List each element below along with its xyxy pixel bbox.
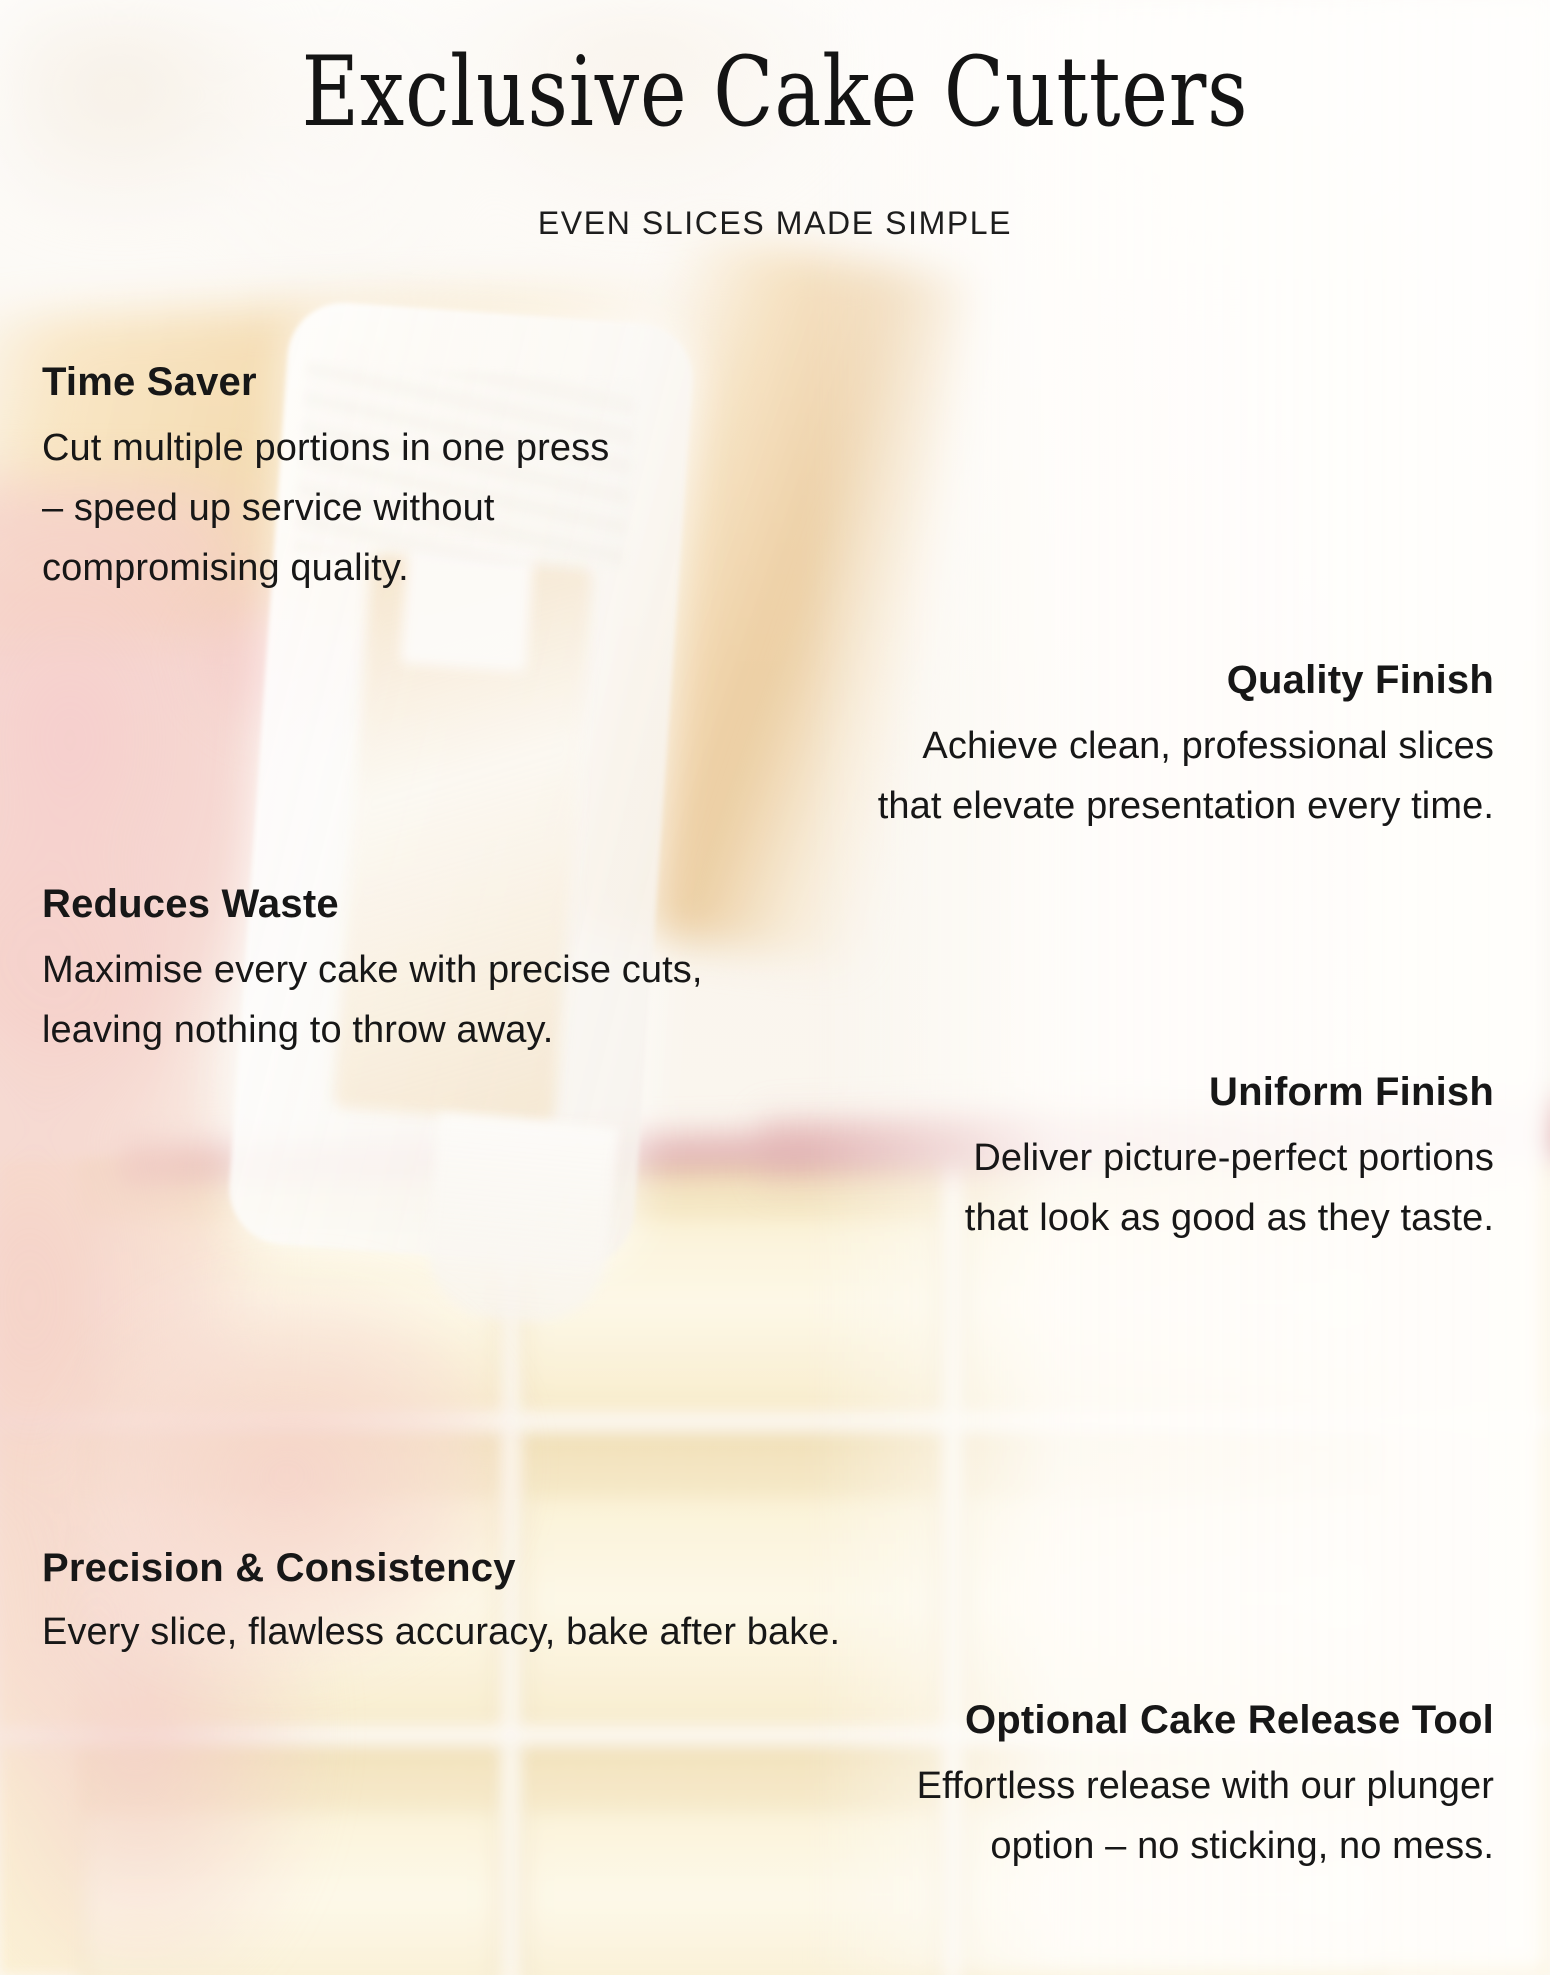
feature-block-optional-cake-release-tool: Optional Cake Release Tool Effortless re…: [917, 1700, 1494, 1876]
feature-body-line: Every slice, flawless accuracy, bake aft…: [42, 1604, 840, 1661]
feature-block-uniform-finish: Uniform Finish Deliver picture-perfect p…: [965, 1072, 1494, 1248]
feature-heading: Time Saver: [42, 362, 609, 402]
feature-heading: Reduces Waste: [42, 884, 703, 924]
page-subtitle: EVEN SLICES MADE SIMPLE: [0, 205, 1550, 242]
poster-canvas: Exclusive Cake Cutters EVEN SLICES MADE …: [0, 0, 1550, 1975]
feature-body-line: leaving nothing to throw away.: [42, 1000, 703, 1060]
feature-body-line: Cut multiple portions in one press: [42, 418, 609, 478]
feature-body-line: compromising quality.: [42, 538, 609, 598]
feature-body-line: Deliver picture-perfect portions: [965, 1128, 1494, 1188]
feature-body: Every slice, flawless accuracy, bake aft…: [42, 1604, 840, 1661]
feature-body: Maximise every cake with precise cuts, l…: [42, 940, 703, 1060]
feature-body: Achieve clean, professional slices that …: [878, 716, 1494, 836]
feature-body-line: – speed up service without: [42, 478, 609, 538]
feature-body-line: option – no sticking, no mess.: [917, 1816, 1494, 1876]
poster-content: Exclusive Cake Cutters EVEN SLICES MADE …: [0, 0, 1550, 1975]
feature-body-line: that look as good as they taste.: [965, 1188, 1494, 1248]
feature-block-quality-finish: Quality Finish Achieve clean, profession…: [878, 660, 1494, 836]
feature-heading: Optional Cake Release Tool: [917, 1700, 1494, 1740]
feature-body-line: Effortless release with our plunger: [917, 1756, 1494, 1816]
feature-heading: Uniform Finish: [965, 1072, 1494, 1112]
page-title: Exclusive Cake Cutters: [140, 42, 1411, 143]
feature-block-time-saver: Time Saver Cut multiple portions in one …: [42, 362, 609, 598]
feature-body: Cut multiple portions in one press – spe…: [42, 418, 609, 598]
feature-block-reduces-waste: Reduces Waste Maximise every cake with p…: [42, 884, 703, 1060]
feature-body: Effortless release with our plunger opti…: [917, 1756, 1494, 1876]
feature-body-line: that elevate presentation every time.: [878, 776, 1494, 836]
feature-body: Deliver picture-perfect portions that lo…: [965, 1128, 1494, 1248]
feature-block-precision-consistency: Precision & Consistency Every slice, fla…: [42, 1548, 840, 1661]
feature-body-line: Maximise every cake with precise cuts,: [42, 940, 703, 1000]
feature-body-line: Achieve clean, professional slices: [878, 716, 1494, 776]
feature-heading: Quality Finish: [878, 660, 1494, 700]
feature-heading: Precision & Consistency: [42, 1548, 840, 1588]
